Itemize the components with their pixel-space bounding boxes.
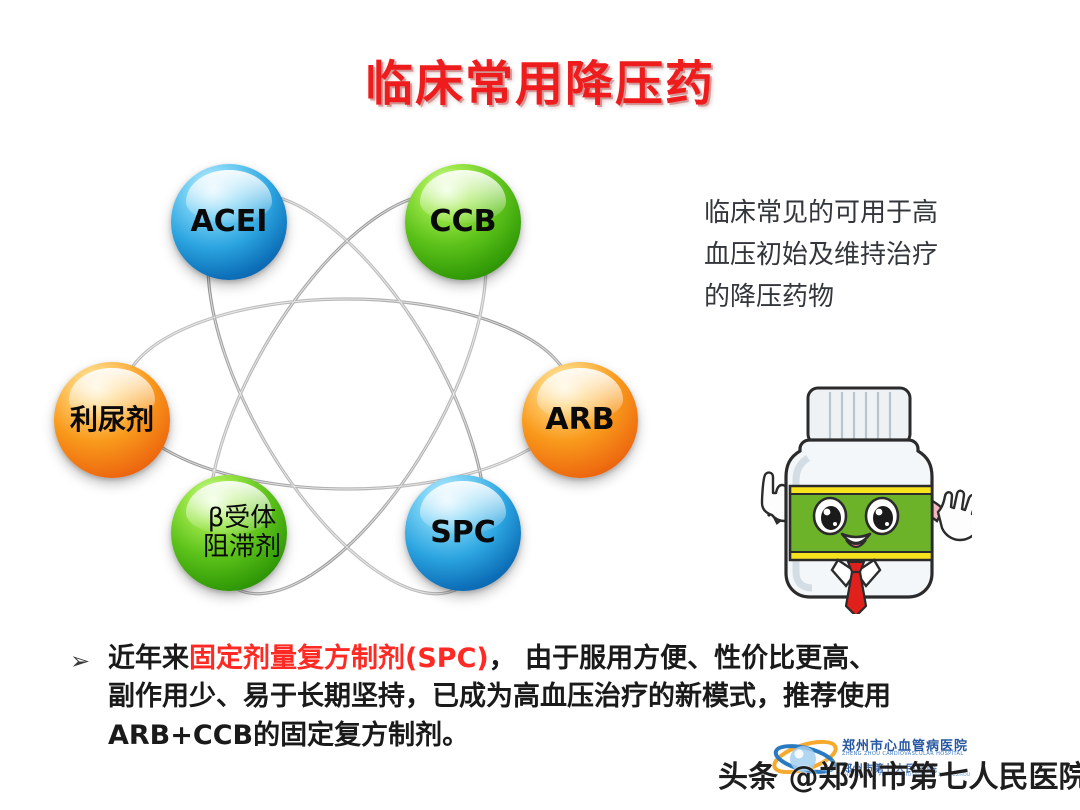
side-note-line-1: 临床常见的可用于高 xyxy=(704,192,1004,234)
diagram-node-ccb[interactable]: CCB xyxy=(405,164,521,280)
bullet-highlight: 固定剂量复方制剂(SPC) xyxy=(189,643,489,674)
diagram-node-spc[interactable]: SPC xyxy=(405,475,521,591)
diagram-node-label: CCB xyxy=(430,207,497,238)
drug-class-diagram: ACEI CCB ARB SPC β受体 阻滞剂 利尿剂 xyxy=(95,150,675,620)
diagram-node-arb[interactable]: ARB xyxy=(522,362,638,478)
pill-bottle-mascot xyxy=(742,382,972,614)
page-title: 临床常用降压药 xyxy=(0,44,1080,114)
bullet-line-2: 副作用少、易于长期坚持，已成为高血压治疗的新模式，推荐使用 xyxy=(108,678,1030,716)
diagram-node-acei[interactable]: ACEI xyxy=(171,164,287,280)
bullet-line1-post: ， 由于服用方便、性价比更高、 xyxy=(489,643,876,674)
side-note: 临床常见的可用于高 血压初始及维持治疗 的降压药物 xyxy=(704,192,1004,318)
bullet-line-1: 近年来固定剂量复方制剂(SPC)， 由于服用方便、性价比更高、 xyxy=(108,640,1030,678)
diagram-node-label: ARB xyxy=(545,405,614,436)
diagram-node-beta-blocker[interactable]: β受体 阻滞剂 xyxy=(171,475,287,591)
diagram-node-label: SPC xyxy=(430,518,496,549)
diagram-node-label: ACEI xyxy=(191,207,268,238)
bullet-arrow-icon: ➢ xyxy=(70,644,90,678)
side-note-line-2: 血压初始及维持治疗 xyxy=(704,234,1004,276)
watermark: 头条 @郑州市第七人民医院 xyxy=(718,752,1080,796)
diagram-node-diuretic[interactable]: 利尿剂 xyxy=(54,362,170,478)
bullet-line1-pre: 近年来 xyxy=(108,643,189,674)
side-note-line-3: 的降压药物 xyxy=(704,276,1004,318)
diagram-node-label: 利尿剂 xyxy=(70,406,154,435)
diagram-node-label: β受体 阻滞剂 xyxy=(197,504,287,562)
beta-label-line2: 阻滞剂 xyxy=(203,532,281,562)
beta-label-line1: β受体 xyxy=(208,503,277,533)
slide-root: 临床常用降压药 ACEI xyxy=(0,0,1080,810)
